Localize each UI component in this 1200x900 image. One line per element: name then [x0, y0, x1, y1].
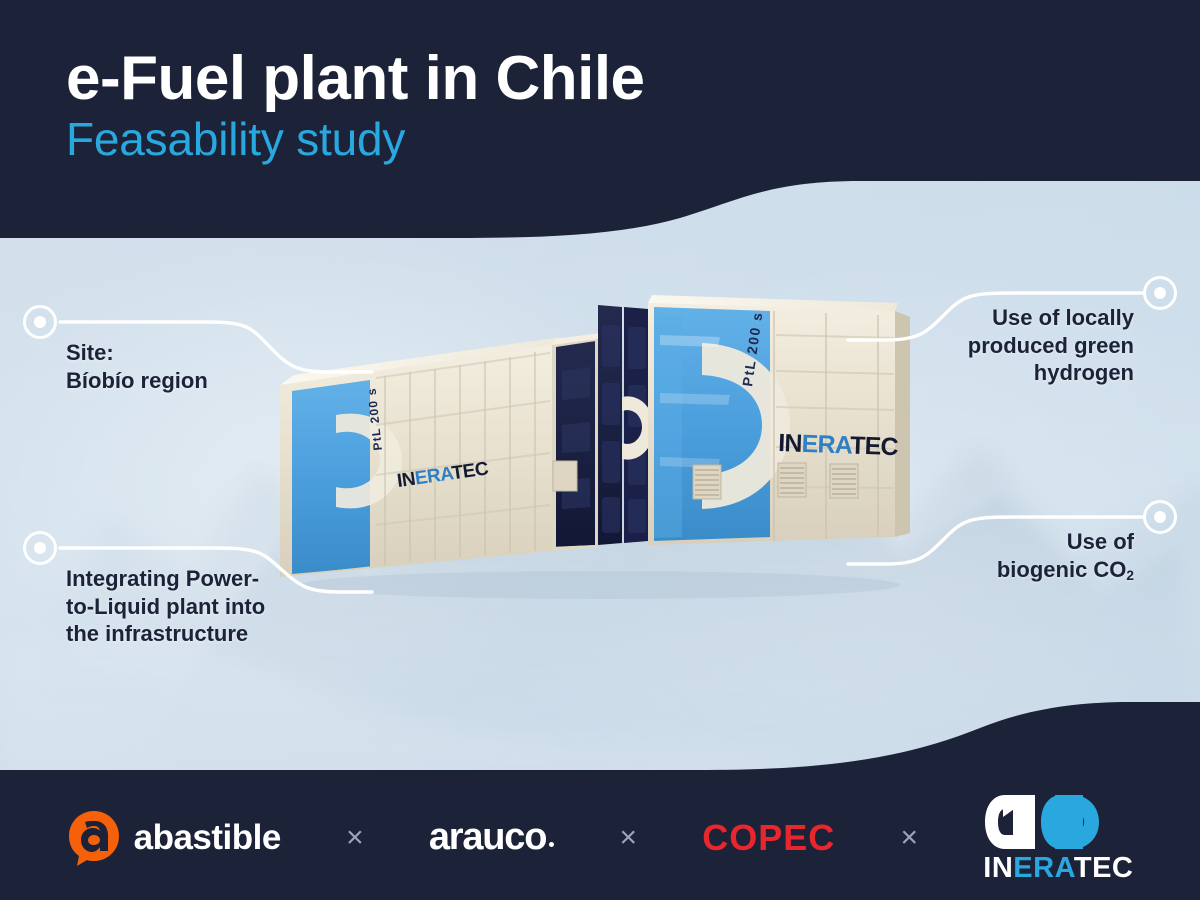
callout-site-line1: Site:	[66, 339, 208, 367]
copec-label: COPEC	[702, 817, 835, 859]
callout-dot-icon	[23, 531, 57, 565]
abastible-label: abastible	[134, 818, 281, 858]
callout-co2-line2: biogenic CO2	[880, 556, 1134, 584]
callout-hydrogen-line1: Use of locally	[880, 304, 1134, 332]
ineratec-label-part1: IN	[983, 852, 1013, 884]
callout-dot-icon	[1143, 276, 1177, 310]
partner-ineratec[interactable]: INERATEC	[983, 793, 1133, 883]
callout-hydrogen-line3: hydrogen	[880, 359, 1134, 387]
ptl-container-unit: PtL 200 s INERATEC	[250, 275, 930, 605]
partner-arauco[interactable]: arauco	[429, 816, 554, 859]
callout-infrastructure[interactable]: Integrating Power- to-Liquid plant into …	[0, 531, 265, 648]
infographic-canvas: PtL 200 s INERATEC	[0, 0, 1200, 900]
callout-dot-icon	[1143, 500, 1177, 534]
partner-logo-bar: abastible × arauco × COPEC ×	[0, 775, 1200, 900]
partner-abastible[interactable]: abastible	[67, 809, 281, 867]
callout-site-line2: Bíobío region	[66, 367, 208, 395]
callout-biogenic-co2[interactable]: Use of biogenic CO2	[880, 500, 1200, 584]
callout-infrastructure-line2: to-Liquid plant into	[66, 593, 265, 621]
ineratec-label-part2: ERA	[1013, 852, 1074, 884]
arauco-label: arauco	[429, 816, 546, 858]
separator-1: ×	[346, 821, 364, 855]
arauco-dot-icon	[549, 842, 554, 847]
ineratec-label-part3: TEC	[1074, 852, 1134, 884]
callout-site[interactable]: Site: Bíobío region	[0, 305, 208, 394]
callout-infrastructure-line3: the infrastructure	[66, 620, 265, 648]
page-subtitle: Feasability study	[66, 113, 645, 166]
svg-text:INERATEC: INERATEC	[778, 429, 899, 461]
abastible-icon	[67, 809, 121, 867]
callout-green-hydrogen[interactable]: Use of locally produced green hydrogen	[880, 276, 1200, 387]
brand-text-right: INERATEC	[778, 429, 899, 461]
ineratec-mark-icon	[983, 793, 1133, 851]
callout-hydrogen-line2: produced green	[880, 332, 1134, 360]
callout-infrastructure-line1: Integrating Power-	[66, 565, 265, 593]
separator-2: ×	[620, 821, 638, 855]
callout-dot-icon	[23, 305, 57, 339]
header-text-group: e-Fuel plant in Chile Feasability study	[66, 46, 645, 166]
callout-co2-line1: Use of	[880, 528, 1134, 556]
page-title: e-Fuel plant in Chile	[66, 46, 645, 111]
partner-copec[interactable]: COPEC	[702, 817, 835, 859]
separator-3: ×	[901, 821, 919, 855]
